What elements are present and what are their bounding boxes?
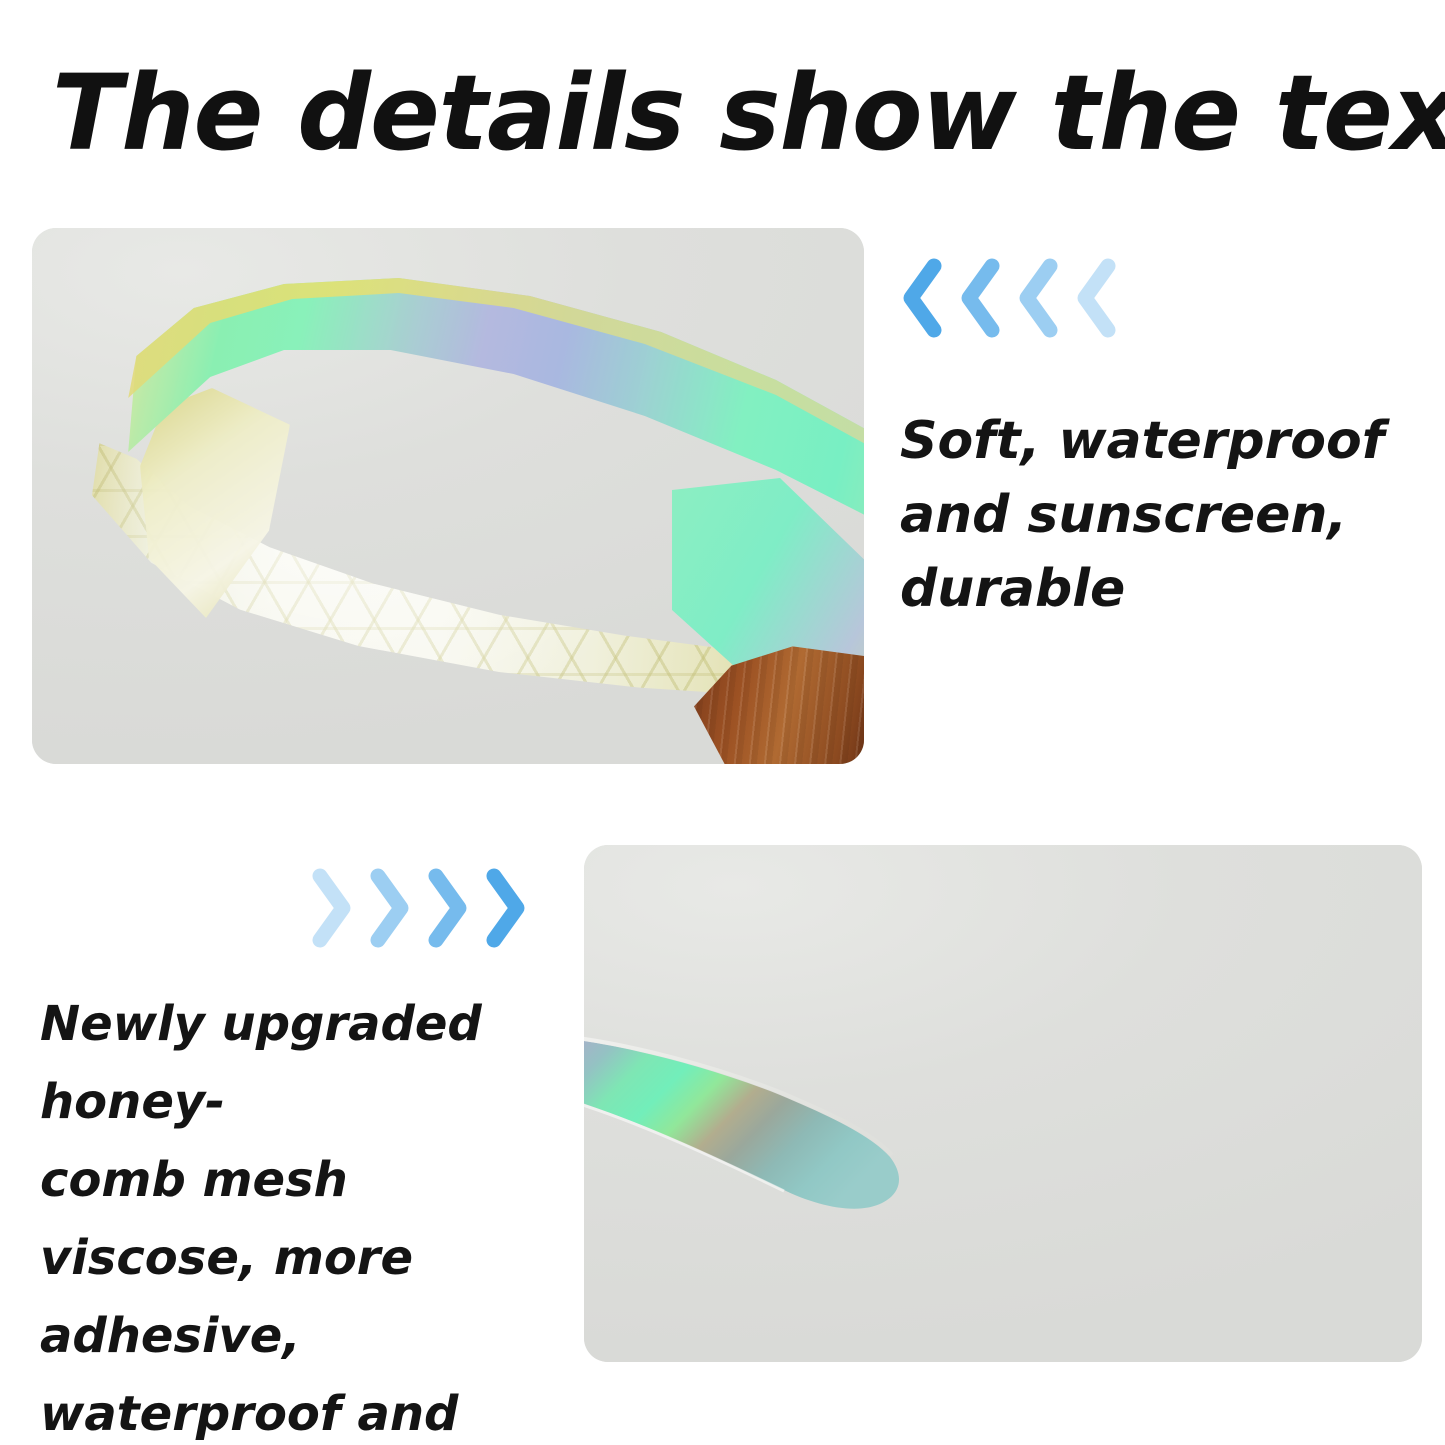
chevron-left-icon — [1014, 256, 1060, 340]
page-title: The details show the texture — [52, 58, 1379, 168]
holographic-strip — [584, 1033, 1176, 1211]
looped-tape-photo-card — [32, 228, 864, 764]
chevron-right-icon — [308, 866, 354, 950]
strip-tip-photo-card — [584, 845, 1422, 1362]
feature-caption-bottom: Newly upgraded honey- comb mesh viscose,… — [40, 985, 560, 1445]
infographic-page: The details show the texture Soft, water… — [0, 0, 1445, 1445]
feature-caption-right: Soft, waterproof and sunscreen, durable — [900, 404, 1400, 626]
feature-caption-bottom-text: Newly upgraded honey- comb mesh viscose,… — [40, 985, 560, 1445]
chevron-left-icon — [956, 256, 1002, 340]
chevron-right-icon — [482, 866, 528, 950]
chevron-right-group — [308, 866, 528, 950]
chevron-right-icon — [366, 866, 412, 950]
chevron-right-icon — [424, 866, 470, 950]
feature-caption-right-text: Soft, waterproof and sunscreen, durable — [900, 404, 1400, 626]
chevron-left-group — [898, 256, 1118, 340]
chevron-left-icon — [1072, 256, 1118, 340]
chevron-left-icon — [898, 256, 944, 340]
